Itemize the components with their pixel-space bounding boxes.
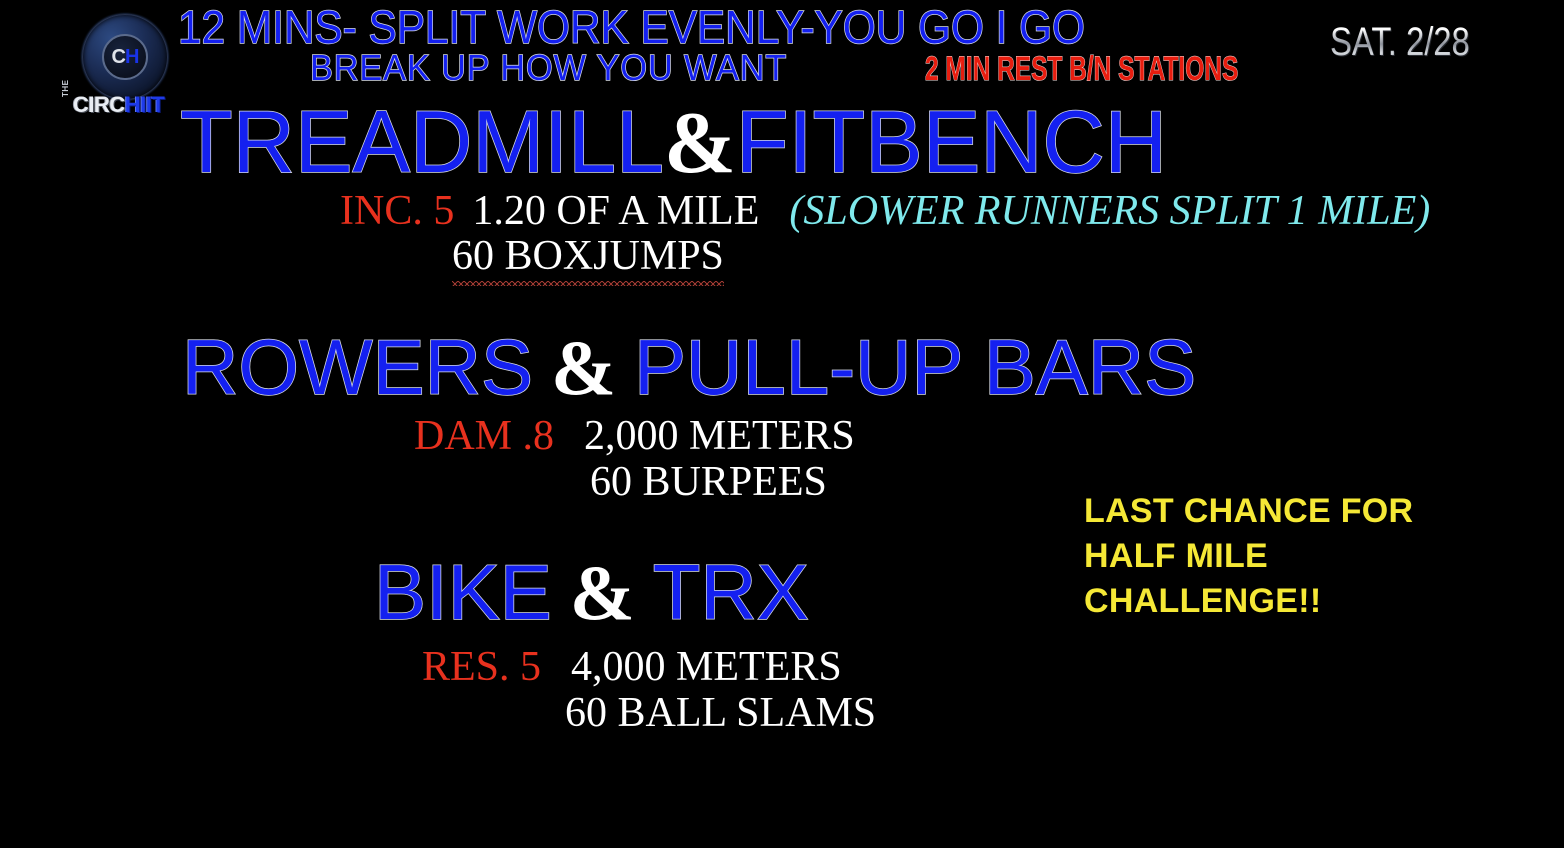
logo-the-text: THE [62,80,70,98]
header-line-2: BREAK UP HOW YOU WANT [310,50,787,86]
logo-monogram-c: C [112,46,125,68]
header-rest-note: 2 MIN REST B/N STATIONS [925,52,1238,86]
station-1-title: TREADMILL&FITBENCH [180,98,1167,188]
header-line-1: 12 MINS- SPLIT WORK EVENLY-YOU GO I GO [178,4,1085,50]
callout-line-2: HALF MILE [1084,534,1484,579]
station-1-name-left: TREADMILL [180,92,664,191]
station-1-second-line: 60 BOXJUMPS [452,235,724,277]
station-2-detail-line-2: 60 BURPEES [590,461,827,503]
station-3-name-right: TRX [653,548,809,636]
callout-line-1: LAST CHANCE FOR [1084,489,1484,534]
logo-name-hiit: HIIT [125,92,165,117]
logo-monogram: CH [112,47,139,67]
logo-ring-icon: CH [82,14,168,100]
station-2-title: ROWERS&PULL-UP BARS [182,328,1196,407]
station-2-name-right: PULL-UP BARS [634,323,1196,411]
station-3-detail-line-2: 60 BALL SLAMS [565,692,876,734]
station-3-title: BIKE&TRX [374,553,809,632]
station-1-work: 1.20 OF A MILE [472,188,759,234]
station-1-name-right: FITBENCH [736,92,1167,191]
station-3-name-left: BIKE [374,548,552,636]
station-2-setting: DAM .8 [414,413,554,459]
logo-monogram-h: H [125,46,138,68]
station-3-second-line: 60 BALL SLAMS [565,690,876,736]
station-2-name-left: ROWERS [182,323,533,411]
station-2-separator: & [551,324,616,411]
station-2-work: 2,000 METERS [584,413,855,459]
station-3-detail-line-1: RES. 54,000 METERS [422,646,842,688]
station-1-note: (SLOWER RUNNERS SPLIT 1 MILE) [789,188,1430,234]
station-1-detail-line-1: INC. 51.20 OF A MILE(SLOWER RUNNERS SPLI… [340,190,1430,232]
callout-line-3: CHALLENGE!! [1084,579,1484,624]
header-date: SAT. 2/28 [1330,22,1470,62]
station-2-detail-line-1: DAM .82,000 METERS [414,415,855,457]
station-1-separator: & [664,95,736,192]
gym-logo: CH THE CIRCHIIT [62,14,182,116]
logo-name: CIRCHIIT [73,94,164,116]
station-3-work: 4,000 METERS [571,644,842,690]
callout-box: LAST CHANCE FOR HALF MILE CHALLENGE!! [1084,489,1484,624]
logo-name-circ: CIRC [73,92,125,117]
workout-board: CH THE CIRCHIIT 12 MINS- SPLIT WORK EVEN… [0,0,1564,848]
station-1-detail-line-2: 60 BOXJUMPS [452,235,724,277]
station-3-setting: RES. 5 [422,644,541,690]
station-2-second-line: 60 BURPEES [590,459,827,505]
station-1-setting: INC. 5 [340,188,454,234]
logo-wordmark: THE CIRCHIIT [62,94,186,118]
station-3-separator: & [570,549,635,636]
